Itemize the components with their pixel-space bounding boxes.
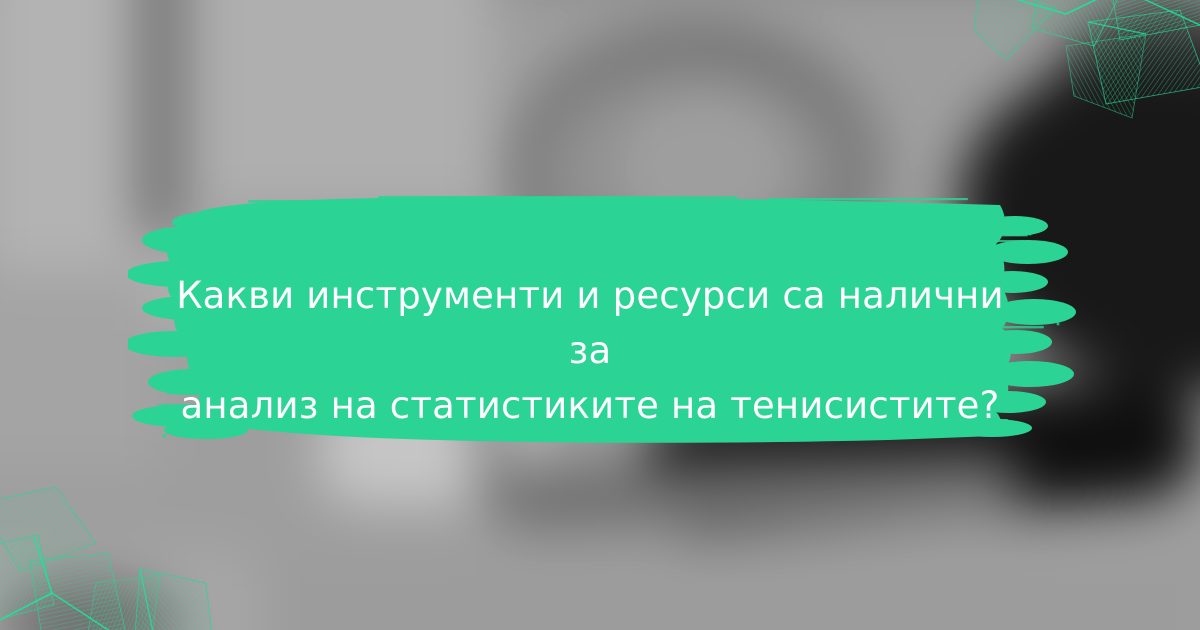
social-card: Какви инструменти и ресурси са налични з… [0,0,1200,630]
headline-text: Какви инструменти и ресурси са налични з… [150,268,1030,433]
